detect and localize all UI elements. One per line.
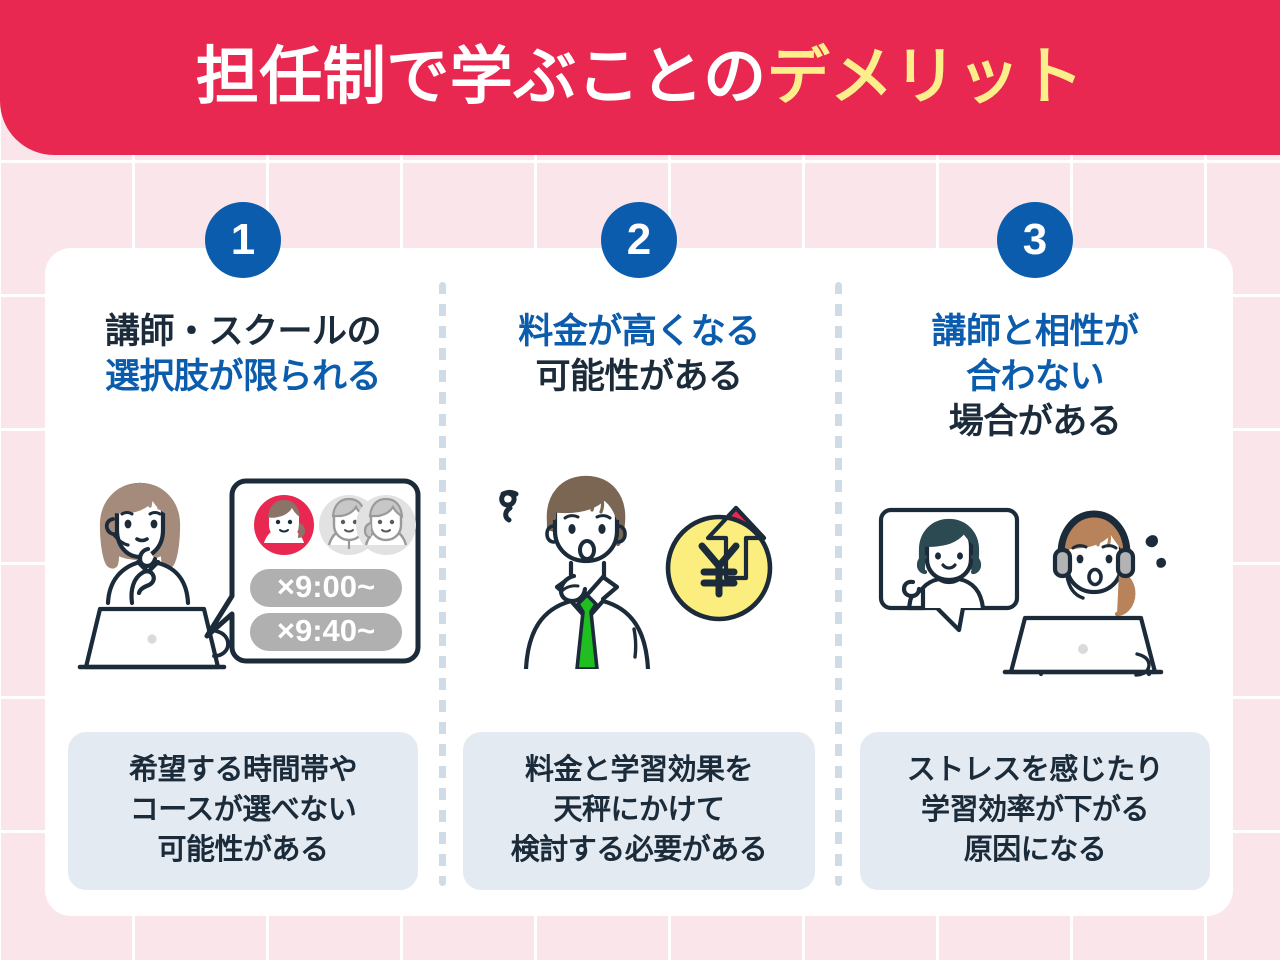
column-3-heading: 講師と相性が 合わない 場合がある <box>931 310 1138 444</box>
column-3-heading-line2: 合わない <box>931 355 1138 400</box>
sweat-drops-icon <box>1146 535 1166 568</box>
page-title: 担任制で学ぶことのデメリット <box>196 46 1084 109</box>
column-1-heading: 講師・スクールの 選択肢が限られる <box>105 310 381 400</box>
page-title-highlight: デメリット <box>767 42 1085 112</box>
column-3-caption-line2: 学習効率が下がる <box>870 790 1200 830</box>
column-1-caption-line3: 可能性がある <box>78 830 408 870</box>
column-divider-2 <box>835 282 842 886</box>
page-title-plain: 担任制で学ぶことの <box>196 42 767 112</box>
column-1-heading-line2: 選択肢が限られる <box>105 355 381 400</box>
yen-coin-icon <box>668 508 770 619</box>
column-2-caption-line2: 天秤にかけて <box>473 790 805 830</box>
column-2-caption-line1: 料金と学習効果を <box>473 750 805 790</box>
worried-man-with-rising-yen-coin-icon <box>474 464 804 669</box>
column-1-heading-line1: 講師・スクールの <box>105 310 381 355</box>
column-3-caption-line3: 原因になる <box>870 830 1200 870</box>
badge-number-3: 3 <box>997 202 1073 278</box>
online-lesson-mismatch-icon <box>875 502 1195 677</box>
column-2-caption: 料金と学習効果を 天秤にかけて 検討する必要がある <box>463 732 815 890</box>
header-banner: 担任制で学ぶことのデメリット <box>0 0 1280 155</box>
column-2-heading-line1: 料金が高くなる <box>518 310 760 355</box>
slot-label-2: ×9:40~ <box>277 613 375 648</box>
column-2-heading: 料金が高くなる 可能性がある <box>518 310 760 400</box>
column-divider-1 <box>439 282 446 886</box>
column-1: 1 講師・スクールの 選択肢が限られる <box>45 248 441 916</box>
column-3-heading-line3: 場合がある <box>931 400 1138 445</box>
badge-number-2: 2 <box>601 202 677 278</box>
column-1-caption: 希望する時間帯や コースが選べない 可能性がある <box>68 732 418 890</box>
column-3-illustration <box>837 444 1233 732</box>
column-2-caption-line3: 検討する必要がある <box>473 830 805 870</box>
columns-container: 1 講師・スクールの 選択肢が限られる <box>45 248 1233 916</box>
column-2: 2 料金が高くなる 可能性がある <box>441 248 837 916</box>
column-2-heading-line2: 可能性がある <box>518 355 760 400</box>
column-3-caption: ストレスを感じたり 学習効率が下がる 原因になる <box>860 732 1210 890</box>
column-3-heading-line1: 講師と相性が <box>931 310 1138 355</box>
schedule-bubble-icon: ×9:00~ ×9:40~ <box>207 481 418 661</box>
woman-at-laptop-with-schedule-bubble-icon: ×9:00~ ×9:40~ <box>64 463 422 671</box>
column-1-illustration: ×9:00~ ×9:40~ <box>45 400 441 732</box>
column-2-illustration <box>441 400 837 732</box>
column-1-caption-line1: 希望する時間帯や <box>78 750 408 790</box>
badge-number-1: 1 <box>205 202 281 278</box>
column-1-caption-line2: コースが選べない <box>78 790 408 830</box>
slot-label-1: ×9:00~ <box>277 569 375 604</box>
column-3: 3 講師と相性が 合わない 場合がある <box>837 248 1233 916</box>
column-3-caption-line1: ストレスを感じたり <box>870 750 1200 790</box>
